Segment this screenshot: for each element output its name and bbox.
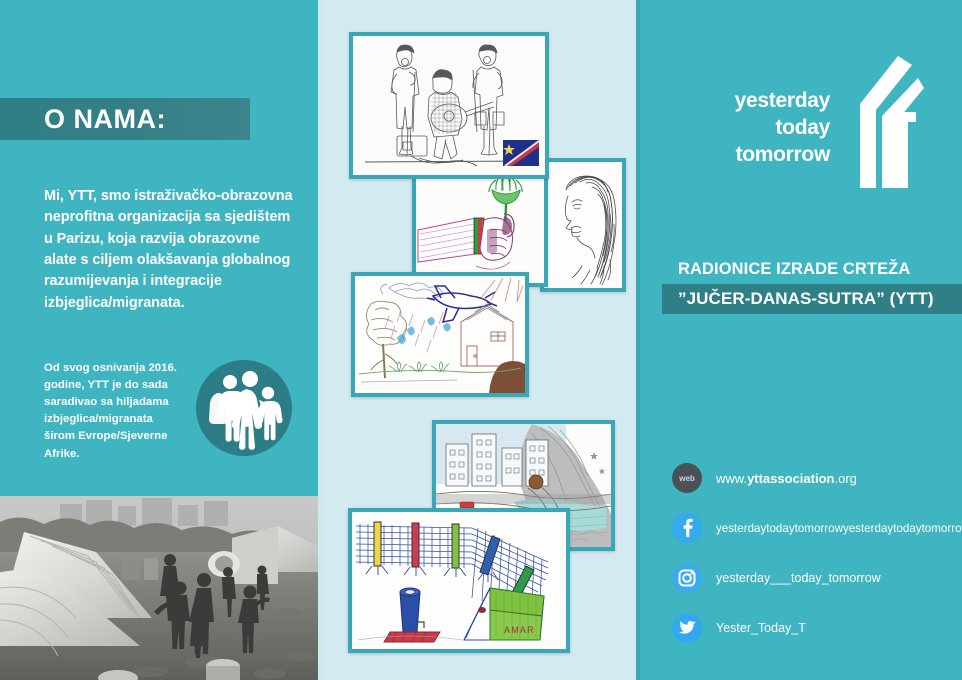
woman-profile-drawing — [540, 158, 626, 292]
about-paragraph: Mi, YTT, smo istraživačko-obrazovna nepr… — [44, 186, 296, 314]
band-musicians-drawing — [349, 32, 549, 179]
facebook-icon[interactable] — [672, 513, 702, 543]
contact-row-facebook[interactable]: yesterdaytodaytomorrowyesterdaytodaytomo… — [672, 512, 962, 544]
twitter-handle[interactable]: Yester_Today_T — [716, 621, 806, 635]
workshop-title: RADIONICE IZRADE CRTEŽA — [678, 260, 958, 279]
camp-tent-drawing: AMAR — [348, 508, 570, 653]
logo-line-yesterday: yesterday — [698, 88, 830, 115]
website-url[interactable]: www.yttassociation.org — [716, 471, 857, 486]
twitter-icon[interactable] — [672, 613, 702, 643]
brochure-page: O NAMA: Mi, YTT, smo istraživačko-obrazo… — [0, 0, 962, 680]
website-url-domain: yttassociation — [747, 471, 834, 486]
page-title: O NAMA: — [44, 104, 166, 135]
about-heading-band: O NAMA: — [0, 98, 250, 140]
website-url-prefix: www. — [716, 471, 747, 486]
family-refugees-icon — [196, 360, 292, 456]
contact-row-instagram[interactable]: yesterday___today_tomorrow — [672, 562, 962, 594]
workshop-subtitle-band: ”JUČER-DANAS-SUTRA” (YTT) — [662, 284, 962, 314]
website-url-suffix: .org — [834, 471, 856, 486]
web-icon-label: web — [679, 474, 695, 483]
house-airplane-drawing — [351, 272, 529, 397]
workshop-subtitle: ”JUČER-DANAS-SUTRA” (YTT) — [678, 289, 934, 309]
instagram-icon[interactable] — [672, 563, 702, 593]
refugee-camp-photo — [0, 496, 318, 680]
contact-row-website[interactable]: web www.yttassociation.org — [672, 462, 962, 494]
logo-line-tomorrow: tomorrow — [698, 142, 830, 169]
three-houses-arrow-logo-mark — [836, 56, 924, 195]
ytt-logo: yesterday today tomorrow — [698, 88, 924, 188]
founding-paragraph: Od svog osnivanja 2016. godine, YTT je d… — [44, 360, 184, 463]
contact-row-twitter[interactable]: Yester_Today_T — [672, 612, 962, 644]
instagram-handle[interactable]: yesterday___today_tomorrow — [716, 571, 881, 585]
logo-wordmark: yesterday today tomorrow — [698, 88, 830, 169]
facebook-handle[interactable]: yesterdaytodaytomorrowyesterdaytodaytomo… — [716, 522, 962, 535]
logo-line-today: today — [698, 115, 830, 142]
hand-holding-plant-drawing — [412, 170, 548, 287]
contact-list: web www.yttassociation.org yesterdaytoda… — [672, 462, 962, 662]
tent-label: AMAR — [504, 625, 535, 635]
web-icon[interactable]: web — [672, 463, 702, 493]
